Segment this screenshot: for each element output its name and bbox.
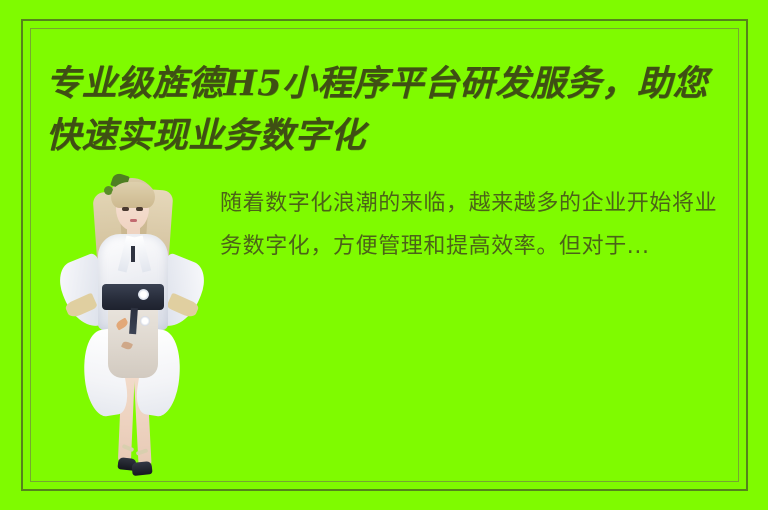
necklace-pendant	[131, 246, 135, 262]
eye-left	[122, 207, 129, 211]
obi-sash	[102, 284, 164, 310]
article-content: 随着数字化浪潮的来临，越来越多的企业开始将业务数字化，方便管理和提高效率。但对于…	[46, 170, 738, 488]
article-card: 专业级旌德H5小程序平台研发服务，助您快速实现业务数字化	[0, 0, 768, 510]
shoe-right	[131, 461, 152, 476]
article-excerpt: 随着数字化浪潮的来临，越来越多的企业开始将业务数字化，方便管理和提高效率。但对于…	[206, 170, 738, 268]
woman-in-kimono-illustration	[54, 170, 206, 488]
mouth	[130, 219, 137, 222]
fabric-petal-b	[140, 316, 150, 326]
page-title: 专业级旌德H5小程序平台研发服务，助您快速实现业务数字化	[46, 58, 738, 162]
hair-fringe	[111, 182, 155, 208]
eye-right	[136, 207, 143, 211]
obi-flower	[138, 289, 149, 300]
